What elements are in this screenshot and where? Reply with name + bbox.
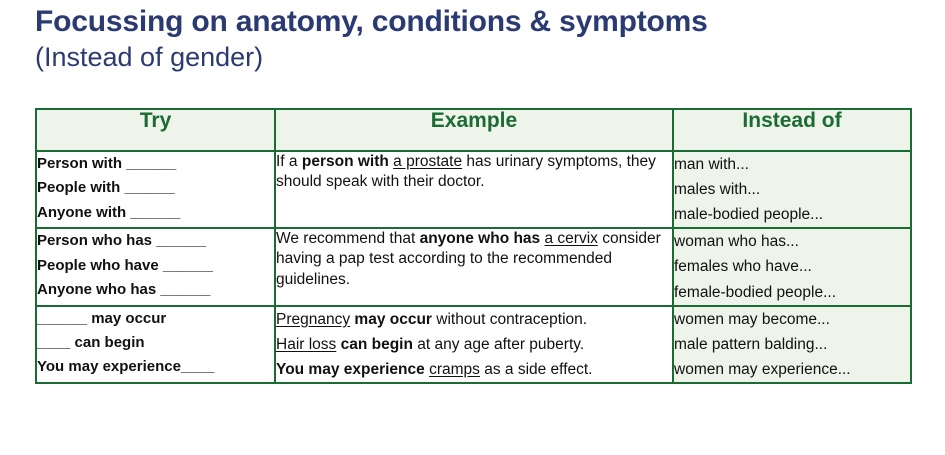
column-header-example: Example bbox=[275, 109, 673, 151]
emphasis-bold: anyone who has bbox=[420, 230, 541, 247]
try-line: People with ______ bbox=[37, 176, 274, 200]
table-row: ______ may occur ____ can begin You may … bbox=[36, 306, 911, 383]
example-line: Hair loss can begin at any age after pub… bbox=[276, 332, 672, 357]
try-line: You may experience____ bbox=[37, 355, 274, 379]
comparison-table-container: Try Example Instead of Person with _____… bbox=[35, 108, 910, 384]
text-run: without contraception. bbox=[432, 311, 587, 328]
instead-of-line: male-bodied people... bbox=[674, 202, 910, 227]
table-header-row: Try Example Instead of bbox=[36, 109, 911, 151]
try-line: Person with ______ bbox=[37, 152, 274, 176]
try-line: Person who has ______ bbox=[37, 229, 274, 253]
instead-of-line: woman who has... bbox=[674, 229, 910, 254]
comparison-table: Try Example Instead of Person with _____… bbox=[35, 108, 912, 384]
page-title: Focussing on anatomy, conditions & sympt… bbox=[35, 4, 925, 39]
text-run: If a bbox=[276, 153, 302, 170]
page-root: Focussing on anatomy, conditions & sympt… bbox=[0, 0, 945, 455]
page-subtitle: (Instead of gender) bbox=[35, 41, 925, 73]
table-header: Try Example Instead of bbox=[36, 109, 911, 151]
page-heading: Focussing on anatomy, conditions & sympt… bbox=[35, 4, 925, 74]
text-run: as a side effect. bbox=[480, 361, 593, 378]
cell-try: ______ may occur ____ can begin You may … bbox=[36, 306, 275, 383]
try-line: ______ may occur bbox=[37, 307, 274, 331]
cell-example: Pregnancy may occur without contraceptio… bbox=[275, 306, 673, 383]
try-line: Anyone with ______ bbox=[37, 201, 274, 225]
instead-of-line: man with... bbox=[674, 152, 910, 177]
cell-instead-of: woman who has... females who have... fem… bbox=[673, 228, 911, 305]
table-row: Person with ______ People with ______ An… bbox=[36, 151, 911, 228]
column-header-instead-of: Instead of bbox=[673, 109, 911, 151]
try-line: People who have ______ bbox=[37, 254, 274, 278]
instead-of-line: male pattern balding... bbox=[674, 332, 910, 357]
cell-example: We recommend that anyone who has a cervi… bbox=[275, 228, 673, 305]
example-line: You may experience cramps as a side effe… bbox=[276, 357, 672, 382]
example-line: Pregnancy may occur without contraceptio… bbox=[276, 307, 672, 332]
emphasis-underline: Pregnancy bbox=[276, 311, 350, 328]
cell-try: Person with ______ People with ______ An… bbox=[36, 151, 275, 228]
column-header-example-label: Example bbox=[431, 109, 517, 132]
example-paragraph: If a person with a prostate has urinary … bbox=[276, 152, 672, 192]
text-run: We recommend that bbox=[276, 230, 420, 247]
emphasis-bold: You may experience bbox=[276, 361, 425, 378]
column-header-try: Try bbox=[36, 109, 275, 151]
instead-of-line: women may become... bbox=[674, 307, 910, 332]
emphasis-bold: may occur bbox=[354, 311, 432, 328]
column-header-try-label: Try bbox=[140, 109, 172, 132]
cell-example: If a person with a prostate has urinary … bbox=[275, 151, 673, 228]
try-line: Anyone who has ______ bbox=[37, 278, 274, 302]
emphasis-bold: can begin bbox=[341, 336, 413, 353]
try-line: ____ can begin bbox=[37, 331, 274, 355]
column-header-instead-of-label: Instead of bbox=[742, 109, 841, 132]
cell-instead-of: women may become... male pattern balding… bbox=[673, 306, 911, 383]
emphasis-bold: person with bbox=[302, 153, 389, 170]
instead-of-line: males with... bbox=[674, 177, 910, 202]
emphasis-underline: a prostate bbox=[393, 153, 462, 170]
emphasis-underline: cramps bbox=[429, 361, 480, 378]
instead-of-line: female-bodied people... bbox=[674, 280, 910, 305]
emphasis-underline: Hair loss bbox=[276, 336, 336, 353]
instead-of-line: females who have... bbox=[674, 254, 910, 279]
example-paragraph: We recommend that anyone who has a cervi… bbox=[276, 229, 672, 289]
table-row: Person who has ______ People who have __… bbox=[36, 228, 911, 305]
cell-instead-of: man with... males with... male-bodied pe… bbox=[673, 151, 911, 228]
cell-try: Person who has ______ People who have __… bbox=[36, 228, 275, 305]
text-run: at any age after puberty. bbox=[413, 336, 584, 353]
emphasis-underline: a cervix bbox=[545, 230, 598, 247]
table-body: Person with ______ People with ______ An… bbox=[36, 151, 911, 383]
instead-of-line: women may experience... bbox=[674, 357, 910, 382]
